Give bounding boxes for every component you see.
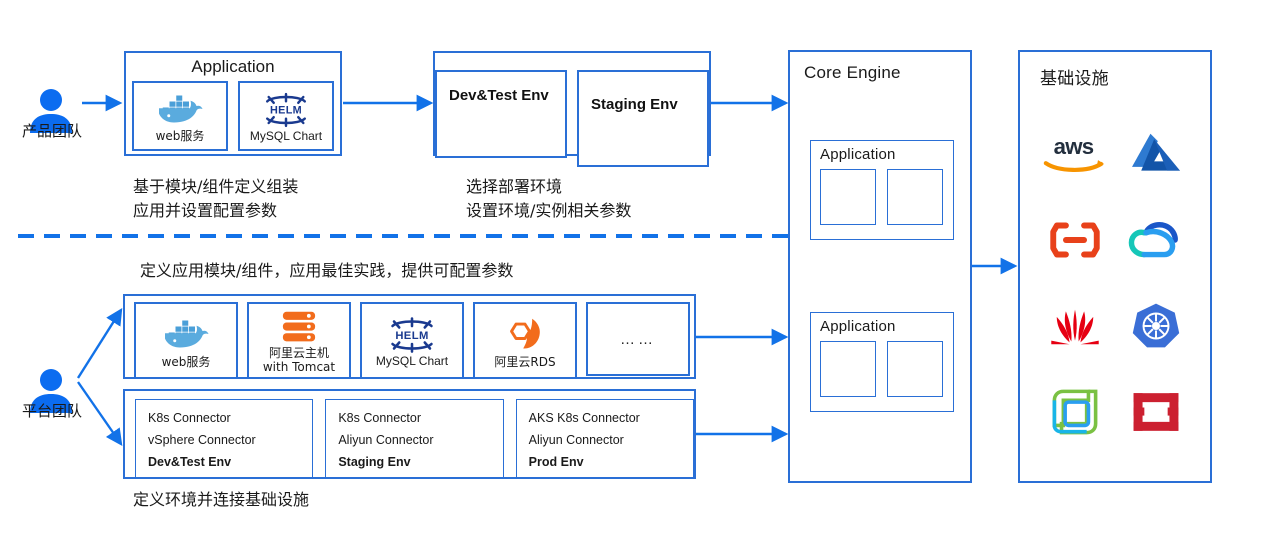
server-stack-icon: [281, 310, 317, 344]
module-tile-ecs-tomcat[interactable]: 阿里云主机 with Tomcat: [247, 302, 351, 379]
module-tile-docker[interactable]: web服务: [132, 81, 228, 151]
core-app-slot[interactable]: [887, 341, 943, 397]
connector-line: AKS K8s Connector: [529, 407, 693, 429]
connector-card-env-label: Prod Env: [529, 451, 693, 473]
huawei-logo-icon: [1044, 304, 1106, 348]
deploy-env-box: Dev&Test Env Staging Env: [433, 51, 711, 156]
architecture-diagram: 产品团队 平台团队 Application: [0, 0, 1280, 539]
env-tile-dev-test-label: Dev&Test Env: [449, 86, 565, 105]
helm-icon: HELM: [385, 317, 439, 353]
application-box-title: Application: [126, 57, 340, 77]
caption-define-modules: 定义应用模块/组件，应用最佳实践，提供可配置参数: [140, 259, 780, 283]
module-tile-ecs-tomcat-label: 阿里云主机 with Tomcat: [263, 346, 335, 374]
svg-text:aws: aws: [1053, 134, 1093, 159]
core-application-1[interactable]: Application: [810, 140, 954, 240]
caption-define-env: 定义环境并连接基础设施: [133, 488, 593, 512]
connector-line: K8s Connector: [148, 407, 312, 429]
kubernetes-logo-icon: [1131, 301, 1181, 351]
azure-logo-icon: [1126, 130, 1186, 178]
module-tile-aliyun-rds-label: 阿里云RDS: [494, 355, 555, 369]
helm-icon: HELM: [260, 92, 312, 128]
logo-azure[interactable]: [1115, 125, 1196, 183]
infrastructure-panel: 基础设施 aws: [1018, 50, 1212, 483]
caption-select-env: 选择部署环境 设置环境/实例相关参数: [466, 175, 796, 223]
openshift-logo-icon: [1046, 219, 1104, 261]
core-application-2-title: Application: [820, 318, 953, 335]
core-engine-panel: Core Engine Application Application: [788, 50, 972, 483]
core-app-slot[interactable]: [887, 169, 943, 225]
tencent-cloud-logo-icon: [1126, 218, 1186, 262]
logo-kubernetes[interactable]: [1115, 297, 1196, 355]
module-tile-aliyun-rds[interactable]: 阿里云RDS: [473, 302, 577, 379]
aws-logo-icon: aws: [1038, 131, 1112, 177]
actor-platform-team-label: 平台团队: [6, 400, 98, 421]
module-tile-docker-label: web服务: [162, 355, 211, 369]
vmware-logo-icon: [1049, 386, 1101, 438]
connector-line: vSphere Connector: [148, 429, 312, 451]
core-application-2[interactable]: Application: [810, 312, 954, 412]
module-tile-helm[interactable]: HELM MySQL Chart: [238, 81, 334, 151]
svg-text:HELM: HELM: [270, 104, 302, 116]
docker-icon: [156, 91, 204, 127]
ellipsis-icon: ……: [620, 331, 656, 348]
docker-icon: [161, 316, 211, 352]
module-tile-docker[interactable]: web服务: [134, 302, 238, 379]
module-tile-helm[interactable]: HELM MySQL Chart: [360, 302, 464, 379]
connector-card-env-label: Staging Env: [338, 451, 502, 473]
core-app-slot[interactable]: [820, 341, 876, 397]
module-tile-helm-label: MySQL Chart: [376, 354, 448, 368]
logo-openstack[interactable]: [1115, 383, 1196, 441]
module-tile-helm-label: MySQL Chart: [250, 129, 322, 143]
logo-openshift[interactable]: [1034, 211, 1115, 269]
connector-line: K8s Connector: [338, 407, 502, 429]
connector-card-env-label: Dev&Test Env: [148, 451, 312, 473]
connector-card-staging[interactable]: K8s Connector Aliyun Connector Staging E…: [325, 399, 503, 478]
env-tile-dev-test[interactable]: Dev&Test Env: [435, 70, 567, 158]
caption-assemble: 基于模块/组件定义组装 应用并设置配置参数: [133, 175, 463, 223]
infrastructure-title: 基础设施: [1040, 64, 1210, 89]
svg-text:HELM: HELM: [395, 329, 428, 341]
modules-box: web服务 阿里云主机 with Tomcat: [123, 294, 696, 379]
connector-line: Aliyun Connector: [338, 429, 502, 451]
application-box: Application web服务: [124, 51, 342, 156]
openstack-logo-icon: [1130, 389, 1182, 435]
actor-product-team-label: 产品团队: [8, 120, 96, 141]
connectors-box: K8s Connector vSphere Connector Dev&Test…: [123, 389, 696, 479]
module-tile-docker-label: web服务: [156, 129, 205, 143]
logo-tencent-cloud[interactable]: [1115, 211, 1196, 269]
env-tile-staging[interactable]: Staging Env: [577, 70, 709, 167]
connector-card-prod[interactable]: AKS K8s Connector Aliyun Connector Prod …: [516, 399, 694, 478]
env-tile-staging-label: Staging Env: [591, 95, 707, 114]
core-engine-title: Core Engine: [804, 63, 970, 83]
logo-vmware[interactable]: [1034, 383, 1115, 441]
aliyun-rds-icon: [505, 316, 545, 352]
core-application-1-title: Application: [820, 146, 953, 163]
logo-huawei[interactable]: [1034, 297, 1115, 355]
connector-line: Aliyun Connector: [529, 429, 693, 451]
core-app-slot[interactable]: [820, 169, 876, 225]
connector-card-dev-test[interactable]: K8s Connector vSphere Connector Dev&Test…: [135, 399, 313, 478]
logo-aws[interactable]: aws: [1034, 125, 1115, 183]
module-tile-more[interactable]: ……: [586, 302, 690, 376]
